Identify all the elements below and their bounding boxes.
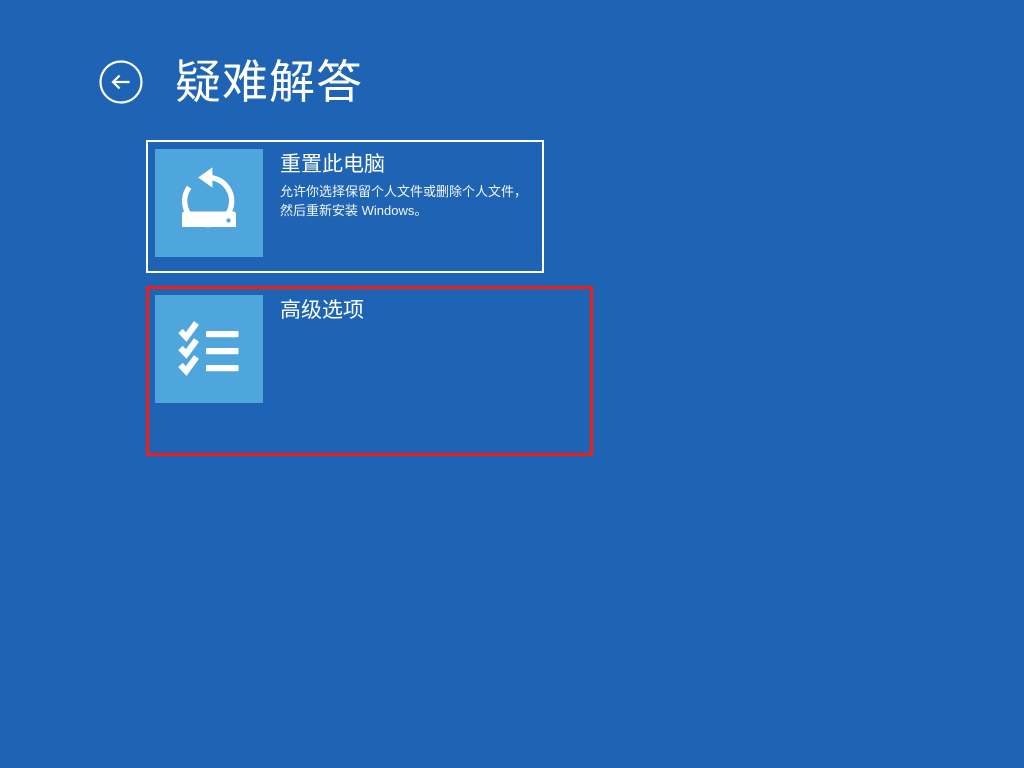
option-row-advanced-options: 高级选项 [146, 286, 606, 419]
option-text-reset-this-pc: 重置此电脑 允许你选择保留个人文件或删除个人文件，然后重新安装 Windows。 [263, 149, 532, 220]
checklist-icon [155, 295, 263, 403]
reset-pc-icon [155, 149, 263, 257]
page-header: 疑难解答 [98, 46, 363, 118]
option-row-reset-this-pc: 重置此电脑 允许你选择保留个人文件或删除个人文件，然后重新安装 Windows。 [146, 140, 606, 273]
option-description: 允许你选择保留个人文件或删除个人文件，然后重新安装 Windows。 [280, 182, 532, 220]
troubleshoot-screen: 疑难解答 [0, 0, 1024, 768]
page-title: 疑难解答 [175, 53, 363, 111]
option-text-advanced-options: 高级选项 [263, 295, 532, 328]
option-label: 重置此电脑 [280, 151, 532, 178]
option-advanced-options[interactable]: 高级选项 [146, 286, 544, 419]
option-label: 高级选项 [280, 297, 532, 324]
option-reset-this-pc[interactable]: 重置此电脑 允许你选择保留个人文件或删除个人文件，然后重新安装 Windows。 [146, 140, 544, 273]
back-arrow-circle-icon[interactable] [98, 59, 144, 105]
options-list: 重置此电脑 允许你选择保留个人文件或删除个人文件，然后重新安装 Windows。 [146, 140, 606, 419]
